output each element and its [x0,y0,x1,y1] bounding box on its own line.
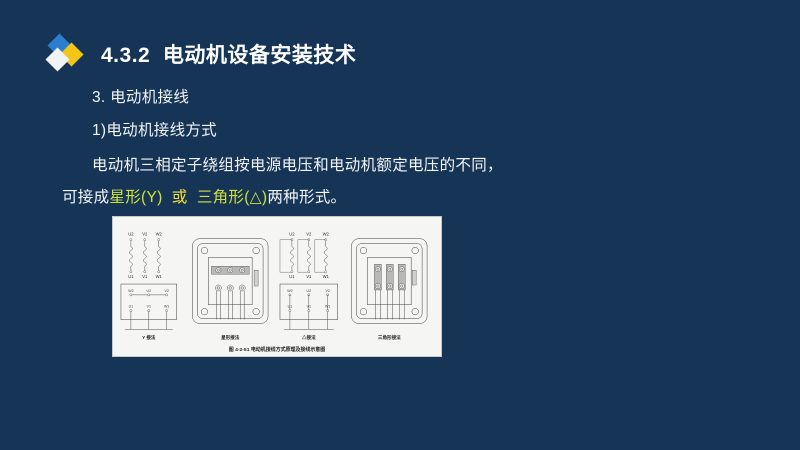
body-line-1: 3. 电动机接线 [92,85,189,107]
label-w1-box-delta: W1 [325,305,330,309]
highlight-star-connection: 星形(Y) [109,189,162,206]
label-w2-star: W2 [156,232,163,237]
body-line-3: 电动机三相定子绕组按电源电压和电动机额定电压的不同， [92,153,503,175]
wiring-diagram-figure: U2 V2 W2 U1 V1 W1 W2 U2 [112,216,442,357]
body-line-2: 1)电动机接线方式 [92,118,217,140]
label-v2-box-star: V2 [164,289,168,293]
sublabel-delta-schematic: △接法 [301,334,316,341]
label-v1-box-star: V1 [147,305,151,309]
delta-terminal-block: 三角形接法 [352,239,428,342]
label-u1-box-delta: U1 [288,305,293,309]
body-line-4-part-5: 两种形式。 [267,189,346,206]
three-diamond-logo [46,34,86,74]
body-line-4-conjunction: 或 [163,189,197,206]
label-v2-delta: V2 [306,232,312,237]
delta-winding-schematic: U2 V2 W2 U1 V1 W1 [280,232,330,279]
label-u1-box-star: U1 [129,305,134,309]
label-u2-star: U2 [128,232,134,237]
label-w2-box-delta: W2 [287,289,292,293]
label-u1-star: U1 [128,274,134,279]
star-winding-schematic: U2 V2 W2 U1 V1 W1 [128,232,162,279]
body-line-4-part-1: 可接成 [62,189,109,206]
label-v1-star: V1 [142,274,148,279]
label-u2-box-star: U2 [146,289,151,293]
label-v1-box-delta: V1 [307,305,311,309]
label-v2-star: V2 [142,232,148,237]
label-w2-box-star: W2 [128,289,133,293]
label-u1-delta: U1 [289,274,295,279]
label-w1-delta: W1 [323,274,330,279]
label-w1-box-star: W1 [164,305,169,309]
wiring-diagram-svg: U2 V2 W2 U1 V1 W1 W2 U2 [113,217,441,356]
sublabel-star-terminal: 星形接法 [221,334,240,341]
label-u2-box-delta: U2 [307,289,312,293]
sublabel-delta-terminal: 三角形接法 [378,334,401,341]
delta-terminal-box-schematic: W2 U2 V2 U1 V1 W1 △接法 [280,284,338,341]
highlight-delta-connection: 三角形(△) [197,189,268,206]
slide-title-row: 4.3.2 电动机设备安装技术 [46,32,356,76]
page-title: 4.3.2 电动机设备安装技术 [101,39,356,69]
sublabel-star-schematic: Y 接法 [142,334,156,341]
body-line-4: 可接成星形(Y) 或 三角形(△)两种形式。 [62,185,346,207]
star-terminal-block: 星形接法 [193,239,269,342]
label-u2-delta: U2 [289,232,295,237]
label-v1-delta: V1 [306,274,312,279]
label-w1-star: W1 [156,274,163,279]
label-v2-box-delta: V2 [326,289,330,293]
label-w2-delta: W2 [323,232,330,237]
figure-caption: 图 4-2-51 电动机接线方式原理及接线示意图 [229,346,325,353]
star-terminal-box-schematic: W2 U2 V2 U1 V1 W1 Y 接法 [121,284,177,341]
